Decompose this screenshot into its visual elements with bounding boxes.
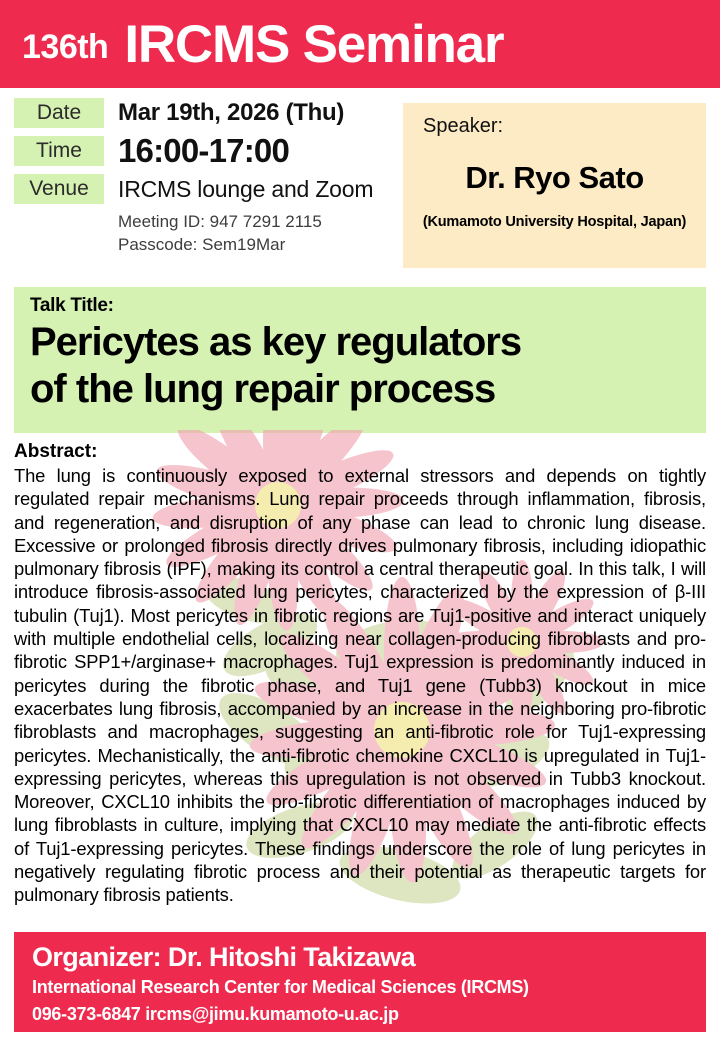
talk-title-line-1: Pericytes as key regulators [30,319,706,366]
passcode: Passcode: Sem19Mar [118,233,394,256]
info-row-time: Time 16:00-17:00 [14,134,394,168]
page-title: IRCMS Seminar [124,18,503,71]
abstract-heading: Abstract: [14,440,706,464]
meeting-id: Meeting ID: 947 7291 2115 [118,210,394,233]
speaker-box: Speaker: Dr. Ryo Sato (Kumamoto Universi… [403,103,706,268]
date-value: Mar 19th, 2026 (Thu) [104,99,344,127]
talk-title-kicker: Talk Title: [30,295,706,317]
zoom-details: Meeting ID: 947 7291 2115 Passcode: Sem1… [118,210,394,256]
poster-footer: Organizer: Dr. Hitoshi Takizawa Internat… [14,932,706,1032]
time-label: Time [14,136,104,166]
seminar-ordinal: 136th [22,30,108,64]
abstract-body: The lung is continuously exposed to exte… [14,464,706,907]
speaker-name: Dr. Ryo Sato [415,160,694,196]
time-value: 16:00-17:00 [104,134,289,168]
venue-label: Venue [14,174,104,204]
talk-title-line-2: of the lung repair process [30,366,706,413]
info-row-venue: Venue IRCMS lounge and Zoom [14,174,394,204]
event-info-block: Date Mar 19th, 2026 (Thu) Time 16:00-17:… [14,98,394,256]
organizer-center: International Research Center for Medica… [32,974,706,1001]
organizer-name: Organizer: Dr. Hitoshi Takizawa [32,941,706,974]
organizer-contact: 096-373-6847 ircms@jimu.kumamoto-u.ac.jp [32,1001,706,1027]
poster-header: 136th IRCMS Seminar [0,0,720,88]
date-label: Date [14,98,104,128]
seminar-poster: 136th IRCMS Seminar Date Mar 19th, 2026 … [0,0,720,1040]
speaker-label: Speaker: [423,115,694,138]
talk-title-box: Talk Title: Pericytes as key regulators … [14,287,706,433]
speaker-affiliation: (Kumamoto University Hospital, Japan) [415,214,694,230]
info-row-date: Date Mar 19th, 2026 (Thu) [14,98,394,128]
talk-title: Pericytes as key regulators of the lung … [30,319,706,413]
venue-value: IRCMS lounge and Zoom [104,176,373,203]
abstract-section: Abstract: The lung is continuously expos… [14,440,706,907]
